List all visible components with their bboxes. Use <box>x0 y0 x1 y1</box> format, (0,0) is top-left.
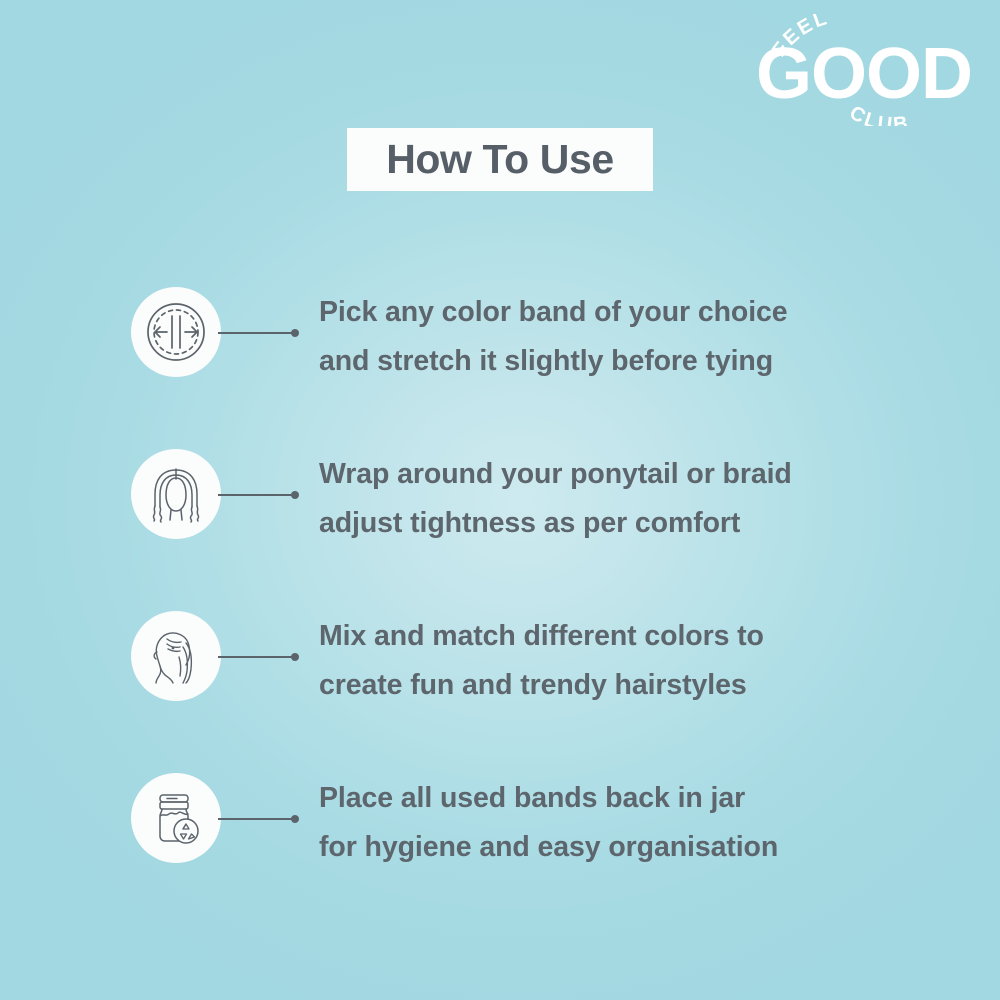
step-text: Wrap around your ponytail or braid adjus… <box>319 450 959 548</box>
step-text-line-2: and stretch it slightly before tying <box>319 337 959 386</box>
step-icon-badge <box>131 449 221 539</box>
step-connector <box>218 331 300 334</box>
step-text-line-2: adjust tightness as per comfort <box>319 499 959 548</box>
step-row: Wrap around your ponytail or braid adjus… <box>0 443 1000 555</box>
connector-line <box>218 494 292 496</box>
page-title: How To Use <box>386 139 614 180</box>
recycle-jar-icon <box>145 787 207 849</box>
step-text: Place all used bands back in jar for hyg… <box>319 774 959 872</box>
step-connector <box>218 817 300 820</box>
step-text: Pick any color band of your choice and s… <box>319 288 959 386</box>
brand-logo: FEEL GOOD CLUB <box>750 14 980 126</box>
step-text-line-1: Wrap around your ponytail or braid <box>319 450 959 499</box>
step-row: Mix and match different colors to create… <box>0 605 1000 717</box>
step-connector <box>218 493 300 496</box>
logo-good-text: GOOD <box>756 34 972 114</box>
connector-dot <box>291 815 299 823</box>
step-icon-badge <box>131 773 221 863</box>
connector-dot <box>291 653 299 661</box>
step-text-line-2: for hygiene and easy organisation <box>319 823 959 872</box>
ponytail-profile-icon <box>145 625 207 687</box>
connector-line <box>218 818 292 820</box>
connector-dot <box>291 491 299 499</box>
step-row: Place all used bands back in jar for hyg… <box>0 767 1000 879</box>
step-text-line-1: Mix and match different colors to <box>319 612 959 661</box>
connector-line <box>218 656 292 658</box>
stretch-band-icon <box>145 301 207 363</box>
step-icon-badge <box>131 611 221 701</box>
step-row: Pick any color band of your choice and s… <box>0 281 1000 393</box>
connector-line <box>218 332 292 334</box>
step-connector <box>218 655 300 658</box>
step-icon-badge <box>131 287 221 377</box>
step-text-line-2: create fun and trendy hairstyles <box>319 661 959 710</box>
braids-hairstyle-icon <box>145 463 207 525</box>
connector-dot <box>291 329 299 337</box>
page-title-banner: How To Use <box>347 128 653 191</box>
step-text-line-1: Pick any color band of your choice <box>319 288 959 337</box>
step-text-line-1: Place all used bands back in jar <box>319 774 959 823</box>
step-text: Mix and match different colors to create… <box>319 612 959 710</box>
